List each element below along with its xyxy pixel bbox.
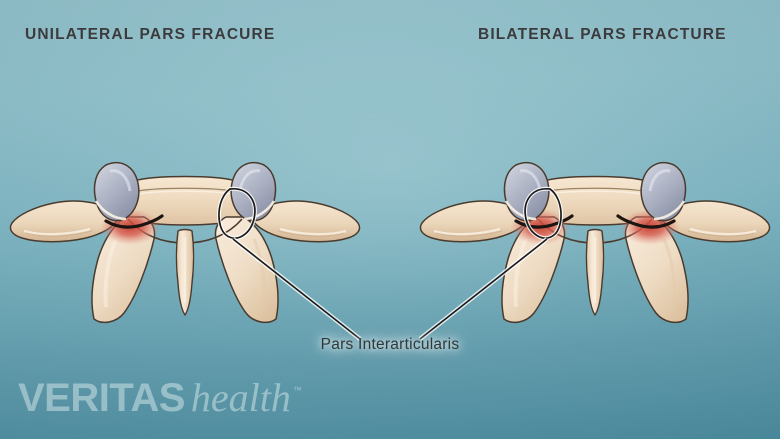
watermark-suffix: health <box>191 378 291 418</box>
veritas-health-watermark: VERITAS health ™ <box>18 378 302 418</box>
figure-bilateral-pars-fracture <box>412 143 778 348</box>
watermark-brand: VERITAS <box>18 378 185 418</box>
title-bilateral: BILATERAL PARS FRACTURE <box>478 26 727 44</box>
vertebra-right-bilateral <box>420 163 770 339</box>
title-unilateral: UNILATERAL PARS FRACURE <box>25 26 275 44</box>
illustration-canvas: UNILATERAL PARS FRACURE BILATERAL PARS F… <box>0 0 780 439</box>
pars-interarticularis-label: Pars Interarticularis <box>0 336 780 354</box>
figure-unilateral-pars-fracture <box>2 143 368 348</box>
vertebra-left-unilateral <box>10 163 360 339</box>
trademark-icon: ™ <box>293 385 302 395</box>
